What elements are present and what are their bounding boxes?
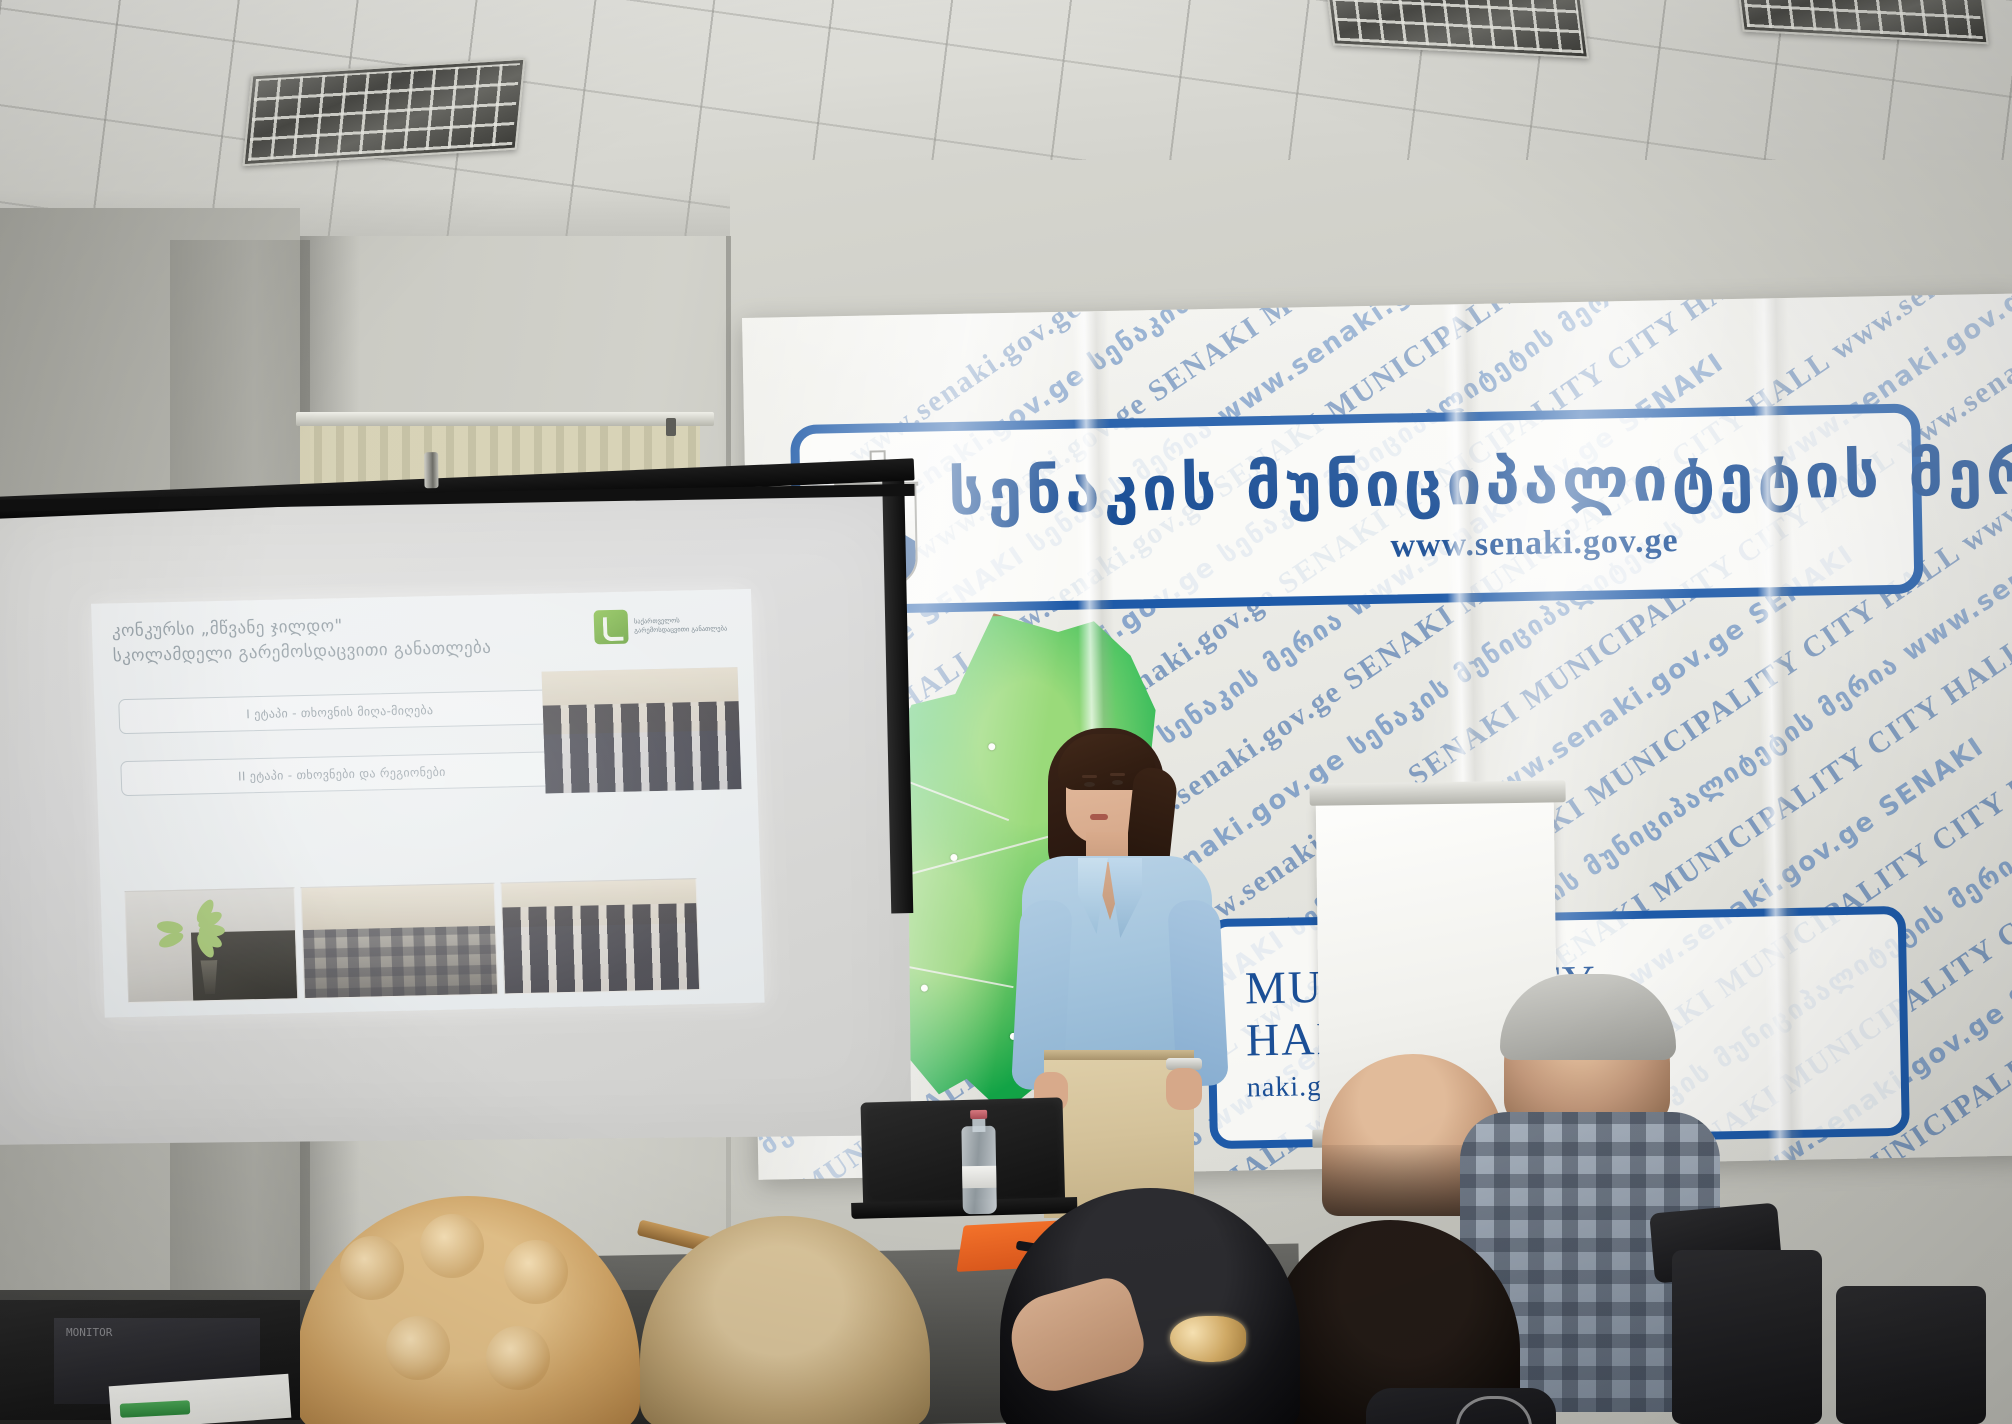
slide-photo-certificate-ceremony	[500, 878, 700, 994]
hair-clip-icon	[1170, 1316, 1246, 1362]
slide-stage-box-1: I ეტაპი - თხოვნის მიღა-მიღება	[118, 689, 561, 734]
photo-scene: SENAKI MUNICIPALITY CITY HALL www.senaki…	[0, 0, 2012, 1424]
attendee-dark-haired-right	[1270, 1220, 1520, 1424]
monitor-label: MONITOR	[66, 1326, 112, 1339]
slide-logo-text: საქართველოს გარემოსდაცვითი განათლება	[634, 616, 731, 636]
slide-title: კონკურსი „მწვანე ჯილდო" სკოლამდელი გარემ…	[112, 609, 584, 669]
recessed-grid-light-icon	[242, 58, 525, 166]
slide-photo-plant-board	[125, 887, 299, 1003]
chair	[1672, 1250, 1822, 1424]
chair	[1836, 1286, 1986, 1424]
leaf-logo-icon	[594, 610, 629, 645]
blinds-hook-icon	[666, 418, 676, 436]
slide-stage-box-2: II ეტაპი - თხოვნები და რეგიონები	[120, 751, 563, 796]
screen-hanging-knob-icon	[424, 452, 438, 488]
banner-title-plate: სენაკის მუნიციპალიტეტის მერია www.senaki…	[790, 403, 1923, 615]
water-bottle	[961, 1110, 997, 1215]
attendee-grey-haired	[640, 1216, 930, 1424]
attendee-blonde-haired	[296, 1196, 640, 1424]
flipchart-clamp	[1309, 780, 1565, 806]
projection-screen: კონკურსი „მწვანე ჯილდო" სკოლამდელი გარემ…	[0, 495, 911, 1145]
plant-icon	[178, 912, 236, 965]
projected-slide: კონკურსი „მწვანე ჯილდო" სკოლამდელი გარემ…	[91, 589, 765, 1018]
blinds-rail	[296, 412, 714, 426]
slide-photo-audience	[301, 883, 499, 999]
bottle-cap-icon	[970, 1110, 987, 1119]
slide-organization-logo: საქართველოს გარემოსდაცვითი განათლება	[593, 603, 730, 648]
banner-title-georgian: სენაკის მუნიციპალიტეტის მერია	[948, 438, 2012, 526]
slide-photo-award-group	[542, 667, 742, 793]
